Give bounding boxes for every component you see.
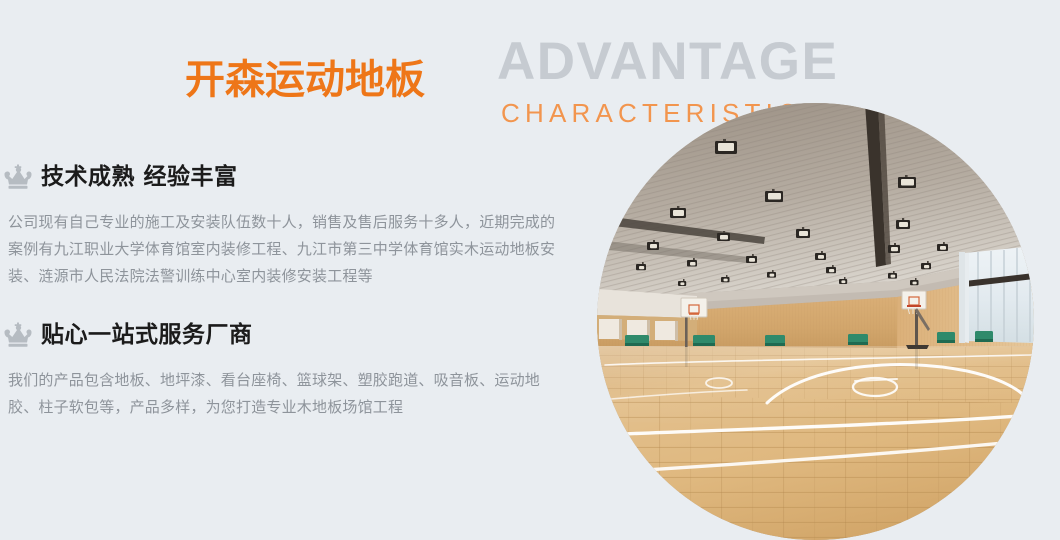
feature-item: 技术成熟 经验丰富 公司现有自己专业的施工及安装队伍数十人，销售及售后服务十多人… — [0, 160, 580, 290]
feature-description: 公司现有自己专业的施工及安装队伍数十人，销售及售后服务十多人，近期完成的案例有九… — [0, 209, 560, 290]
crown-icon — [3, 322, 33, 348]
crown-icon — [3, 164, 33, 190]
feature-item: 贴心一站式服务厂商 我们的产品包含地板、地坪漆、看台座椅、篮球架、塑胶跑道、吸音… — [0, 318, 580, 421]
feature-heading: 技术成熟 经验丰富 — [0, 160, 580, 194]
section-title-block: ADVANTAGE CHARACTERISTIC 开森运动地板 — [185, 28, 885, 118]
feature-heading: 贴心一站式服务厂商 — [0, 318, 580, 352]
title-english-main: ADVANTAGE — [497, 35, 838, 88]
feature-title: 贴心一站式服务厂商 — [41, 322, 253, 348]
feature-list: 技术成熟 经验丰富 公司现有自己专业的施工及安装队伍数十人，销售及售后服务十多人… — [0, 160, 580, 436]
indoor-basketball-court-photo — [597, 103, 1034, 540]
advantage-section: ADVANTAGE CHARACTERISTIC 开森运动地板 技术成熟 经验丰… — [0, 0, 1060, 540]
feature-description: 我们的产品包含地板、地坪漆、看台座椅、篮球架、塑胶跑道、吸音板、运动地胶、柱子软… — [0, 367, 560, 421]
feature-title: 技术成熟 经验丰富 — [41, 164, 238, 190]
gymnasium-illustration — [597, 103, 1034, 540]
page-title: 开森运动地板 — [185, 60, 425, 100]
